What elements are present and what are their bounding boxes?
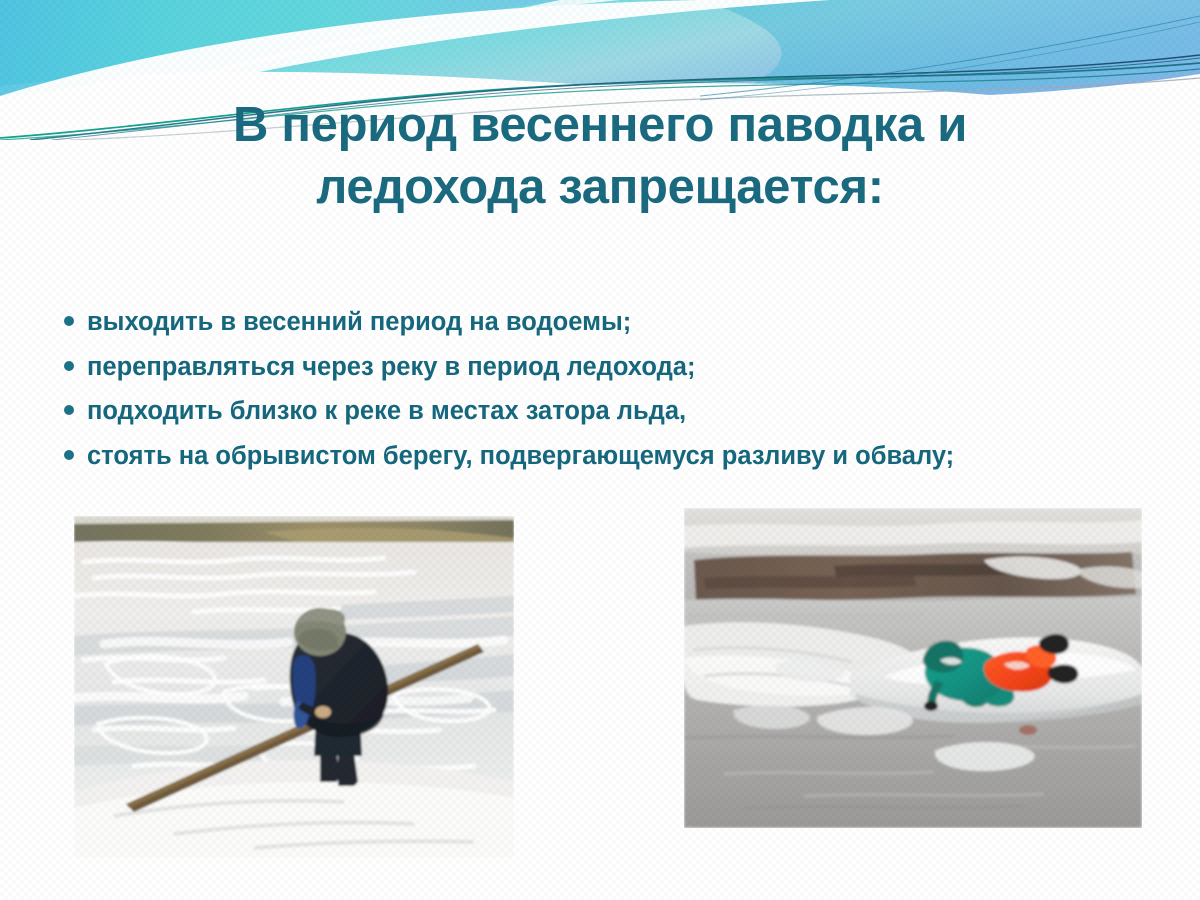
list-item: выходить в весенний период на водоемы; (64, 305, 1154, 340)
list-item: переправляться через реку в период ледох… (64, 350, 1154, 385)
bullet-dot-icon (64, 316, 74, 326)
list-item: стоять на обрывистом берегу, подвергающе… (64, 439, 1154, 474)
prohibitions-list: выходить в весенний период на водоемы; п… (64, 305, 1154, 484)
slide-canvas: В период весеннего паводка и ледохода за… (0, 0, 1200, 900)
list-item: подходить близко к реке в местах затора … (64, 394, 1154, 429)
list-item-label: переправляться через реку в период ледох… (87, 350, 695, 385)
child-on-ice-with-stick-photo (74, 516, 514, 858)
page-title: В период весеннего паводка и ледохода за… (100, 94, 1100, 218)
children-on-ice-floe-photo (684, 508, 1142, 828)
bullet-dot-icon (64, 450, 74, 460)
list-item-label: выходить в весенний период на водоемы; (87, 305, 631, 340)
bullet-dot-icon (64, 405, 74, 415)
list-item-label: подходить близко к реке в местах затора … (87, 394, 686, 429)
title-line-1: В период весеннего паводка и (100, 94, 1100, 156)
bullet-dot-icon (64, 361, 74, 371)
title-line-2: ледохода запрещается: (100, 156, 1100, 218)
list-item-label: стоять на обрывистом берегу, подвергающе… (87, 439, 954, 474)
